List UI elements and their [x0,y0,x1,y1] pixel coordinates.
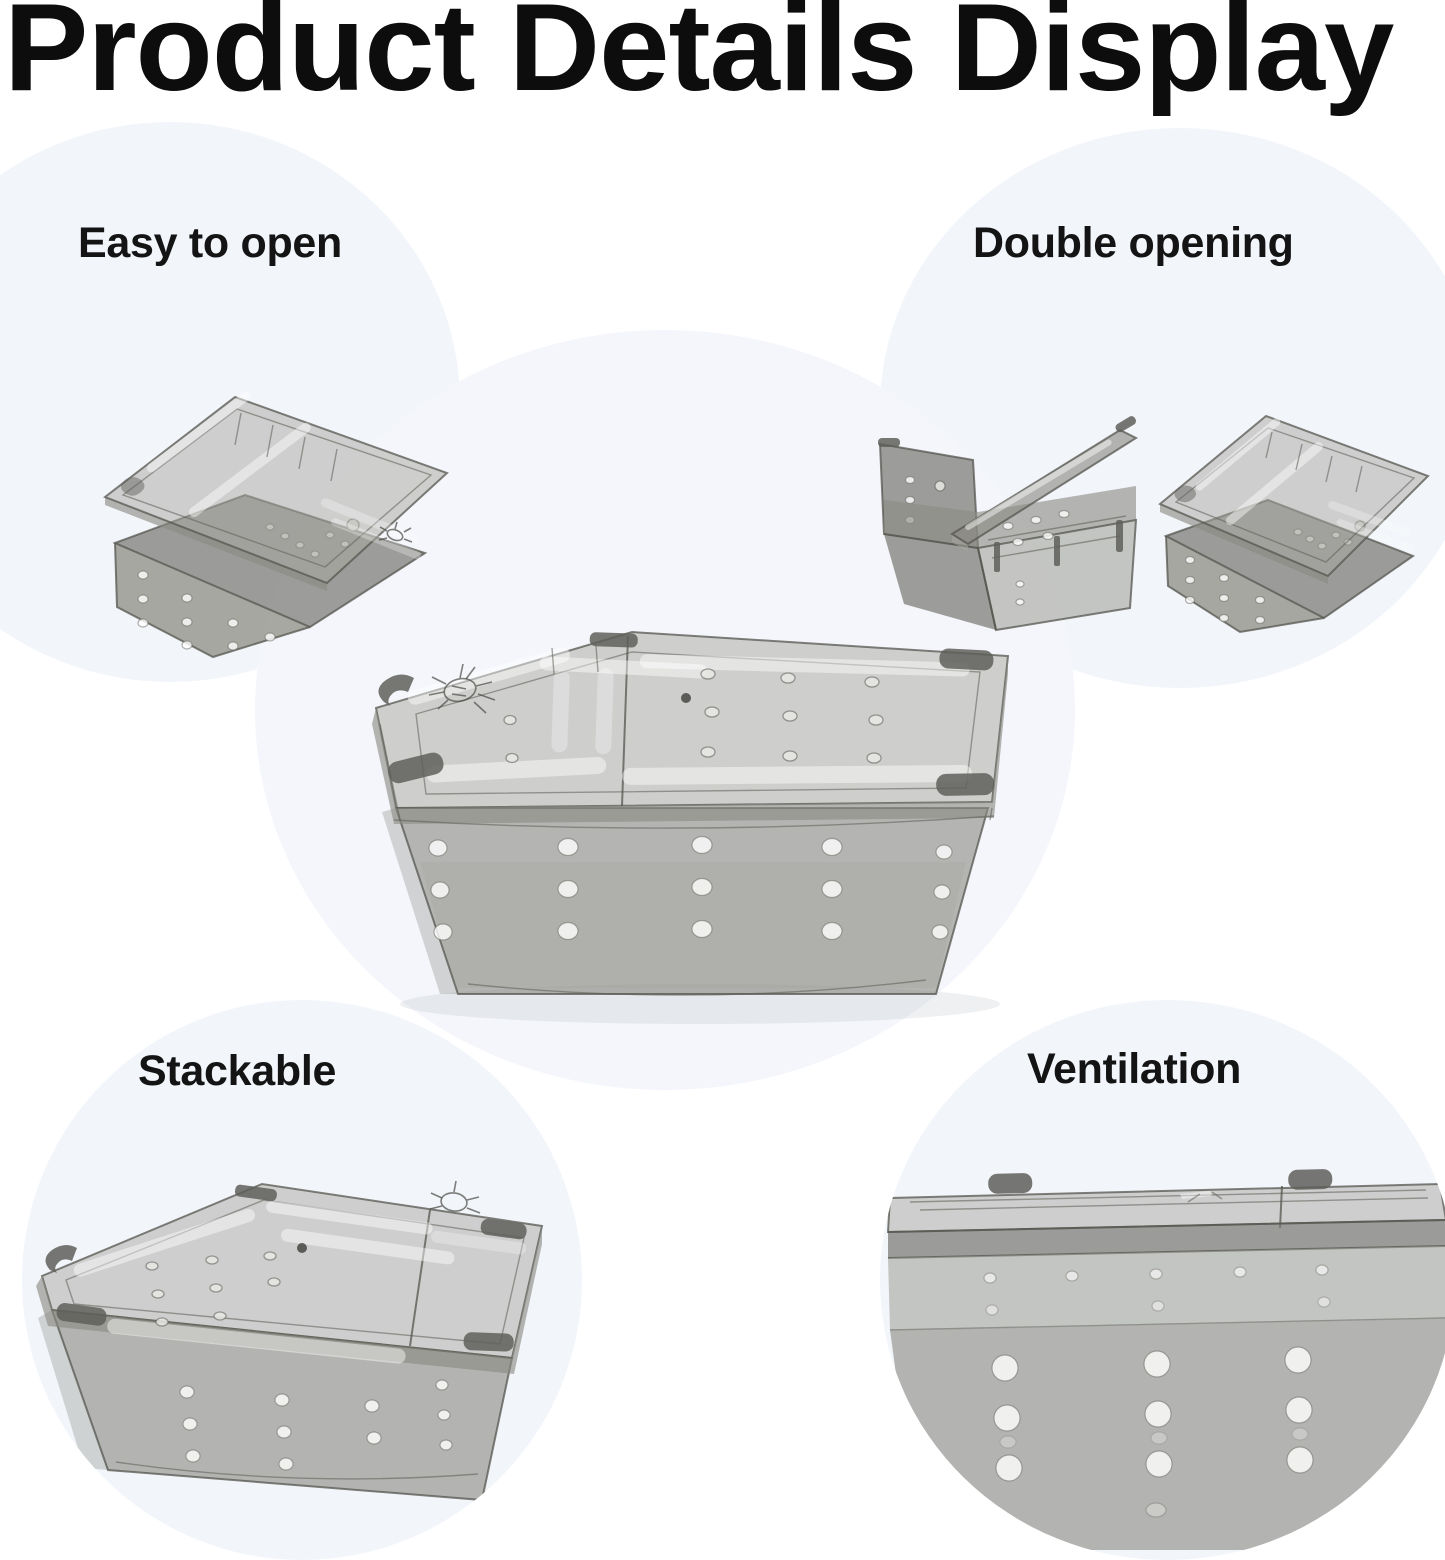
feature-label-stackable: Stackable [138,1050,336,1093]
box-with-tilted-lid-icon [1148,408,1445,658]
feature-label-double-opening: Double opening [973,222,1294,265]
product-image-double-opening-right [1148,408,1445,658]
feature-label-easy-to-open: Easy to open [78,222,342,265]
beetle-logo [430,1181,480,1213]
main-product-image [340,612,1050,1022]
page-title: Product Details Display [4,0,1445,110]
breeding-box-main-icon [340,612,1050,1022]
feature-label-ventilation: Ventilation [1027,1048,1241,1091]
